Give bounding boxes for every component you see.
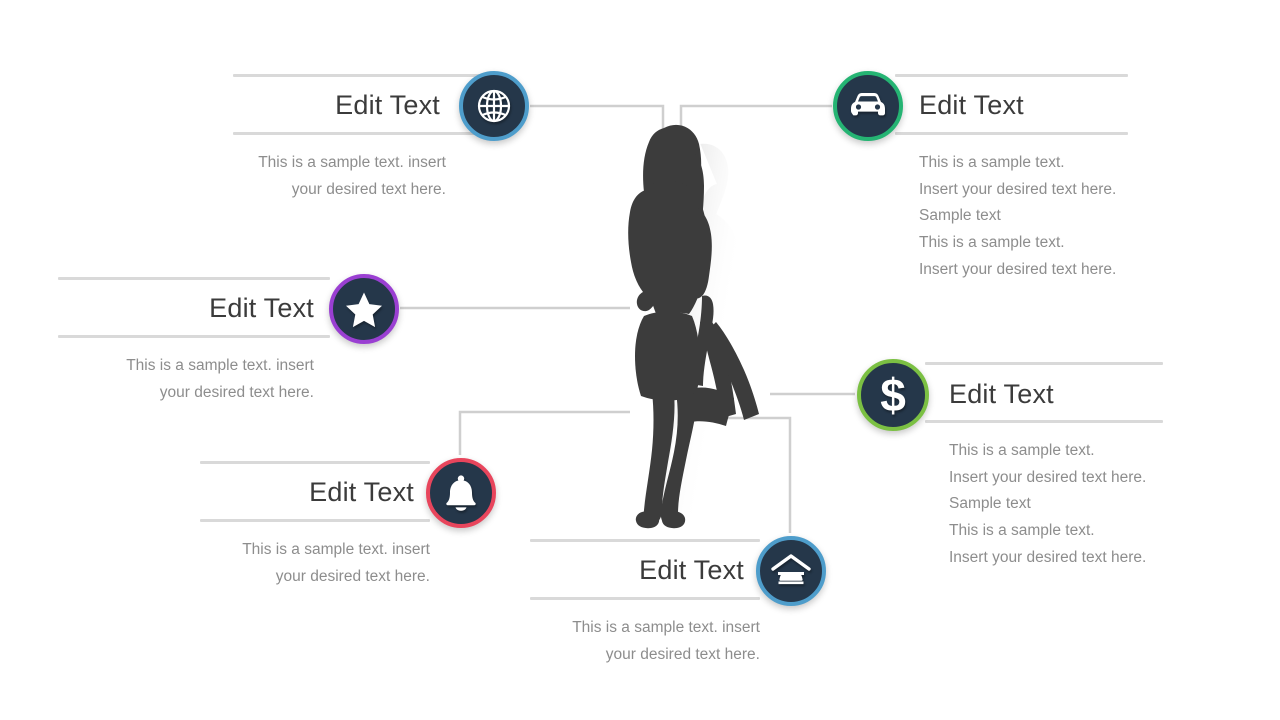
rule-bottom-bell — [200, 519, 430, 522]
badge-globe[interactable] — [459, 71, 529, 141]
infographic-slide: Edit Text This is a sample text. insert … — [0, 0, 1280, 720]
rule-top-garage — [530, 539, 760, 542]
body-bell: This is a sample text. insert your desir… — [174, 537, 430, 590]
rule-bottom-car — [895, 132, 1128, 135]
heading-globe: Edit Text — [233, 92, 440, 119]
body-car: This is a sample text. Insert your desir… — [919, 150, 1209, 283]
heading-star: Edit Text — [58, 295, 314, 322]
badge-bell[interactable] — [426, 458, 496, 528]
rule-bottom-star — [58, 335, 330, 338]
badge-star[interactable] — [329, 274, 399, 344]
woman-shopping-silhouette — [590, 120, 820, 530]
bell-icon — [444, 475, 478, 511]
car-icon — [847, 91, 889, 121]
globe-icon — [474, 86, 514, 126]
badge-garage[interactable] — [756, 536, 826, 606]
badge-dollar[interactable]: $ — [857, 359, 929, 431]
heading-bell: Edit Text — [200, 479, 414, 506]
badge-car[interactable] — [833, 71, 903, 141]
rule-top-star — [58, 277, 330, 280]
rule-bottom-dollar — [925, 420, 1163, 423]
rule-bottom-globe — [233, 132, 500, 135]
rule-top-car — [895, 74, 1128, 77]
garage-icon — [770, 553, 812, 589]
body-globe: This is a sample text. insert your desir… — [190, 150, 446, 203]
rule-bottom-garage — [530, 597, 760, 600]
heading-dollar: Edit Text — [949, 381, 1149, 408]
heading-garage: Edit Text — [530, 557, 744, 584]
star-icon — [345, 291, 383, 328]
rule-top-dollar — [925, 362, 1163, 365]
dollar-icon: $ — [880, 372, 906, 418]
rule-top-globe — [233, 74, 500, 77]
body-garage: This is a sample text. insert your desir… — [504, 615, 760, 668]
body-star: This is a sample text. insert your desir… — [58, 353, 314, 406]
rule-top-bell — [200, 461, 430, 464]
body-dollar: This is a sample text. Insert your desir… — [949, 438, 1239, 571]
heading-car: Edit Text — [919, 92, 1119, 119]
